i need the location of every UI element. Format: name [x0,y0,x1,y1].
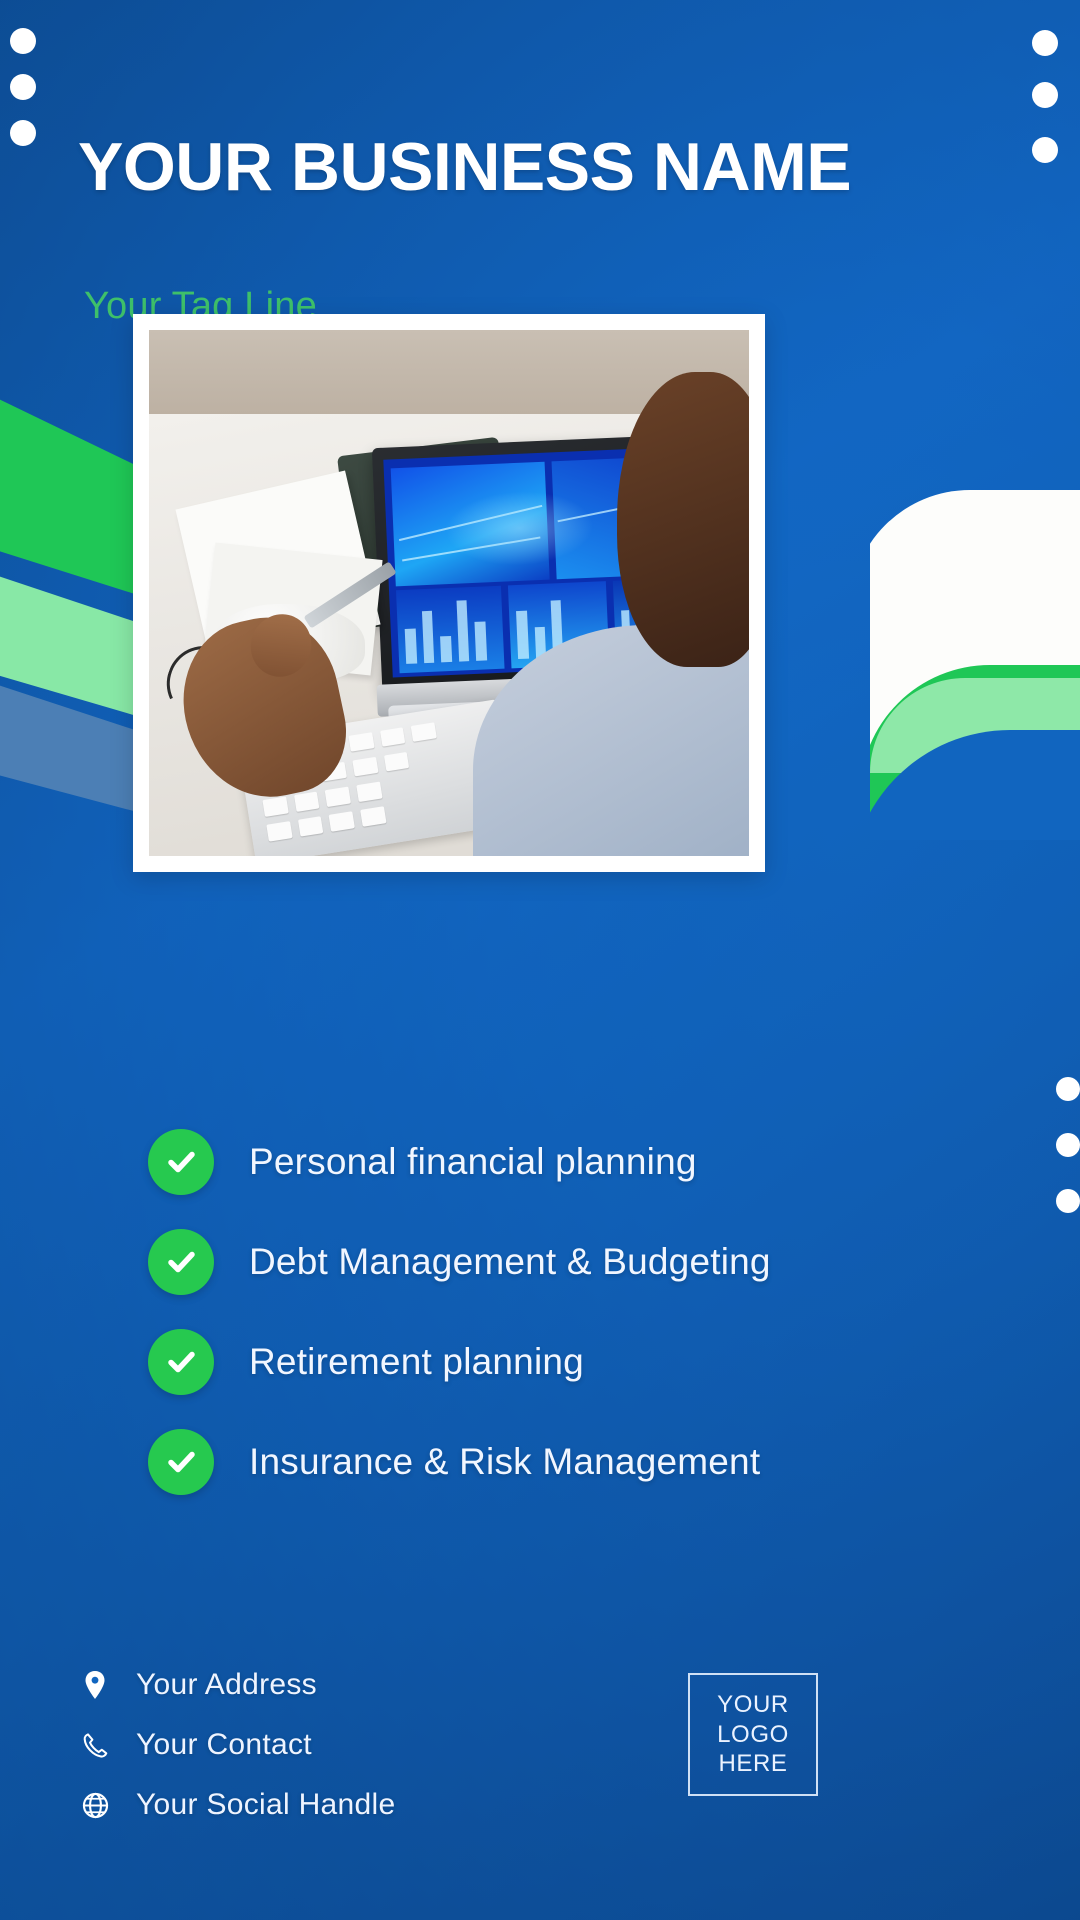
page-title: YOUR BUSINESS NAME [78,128,851,206]
dot-top-left-2 [10,74,36,100]
list-item[interactable]: Personal financial planning [148,1112,968,1212]
contact-row-phone[interactable]: Your Contact [78,1715,395,1775]
contact-label: Your Address [136,1668,317,1702]
dot-top-right-2 [1032,82,1058,108]
dot-mid-right-3 [1056,1189,1080,1213]
globe-icon [78,1792,112,1819]
screen-bar [422,611,435,664]
check-circle-icon [148,1129,214,1195]
check-circle-icon [148,1429,214,1495]
contact-row-social[interactable]: Your Social Handle [78,1775,395,1835]
screen-bar [475,622,487,662]
service-label: Personal financial planning [249,1141,697,1183]
right-decorative-swoosh [870,490,1080,840]
hero-photo [149,330,749,856]
screen-bar [516,611,529,659]
dot-top-right-1 [1032,30,1058,56]
dot-top-left-1 [10,28,36,54]
contact-info: Your Address Your Contact Your Socia [78,1655,395,1835]
contact-row-address[interactable]: Your Address [78,1655,395,1715]
phone-icon [78,1732,112,1759]
list-item[interactable]: Debt Management & Budgeting [148,1212,968,1312]
screen-glow [412,472,626,585]
list-item[interactable]: Retirement planning [148,1312,968,1412]
logo-line-3: HERE [718,1751,787,1777]
check-circle-icon [148,1229,214,1295]
service-label: Insurance & Risk Management [249,1441,760,1483]
list-item[interactable]: Insurance & Risk Management [148,1412,968,1512]
dot-top-left-3 [10,120,36,146]
hero-photo-frame [133,314,765,872]
dot-mid-right-1 [1056,1077,1080,1101]
contact-label: Your Contact [136,1728,312,1762]
screen-bar [405,629,417,664]
location-pin-icon [78,1670,112,1700]
logo-line-2: LOGO [717,1722,789,1748]
logo-placeholder[interactable]: YOUR LOGO HERE [688,1673,818,1796]
dot-top-right-3 [1032,137,1058,163]
dot-mid-right-2 [1056,1133,1080,1157]
service-label: Retirement planning [249,1341,584,1383]
services-checklist: Personal financial planning Debt Managem… [148,1112,968,1512]
logo-line-1: YOUR [717,1692,789,1718]
poster-canvas: YOUR BUSINESS NAME Your Tag Line [0,0,1080,1920]
contact-label: Your Social Handle [136,1788,395,1822]
service-label: Debt Management & Budgeting [249,1241,771,1283]
screen-bar [440,636,452,663]
check-circle-icon [148,1329,214,1395]
